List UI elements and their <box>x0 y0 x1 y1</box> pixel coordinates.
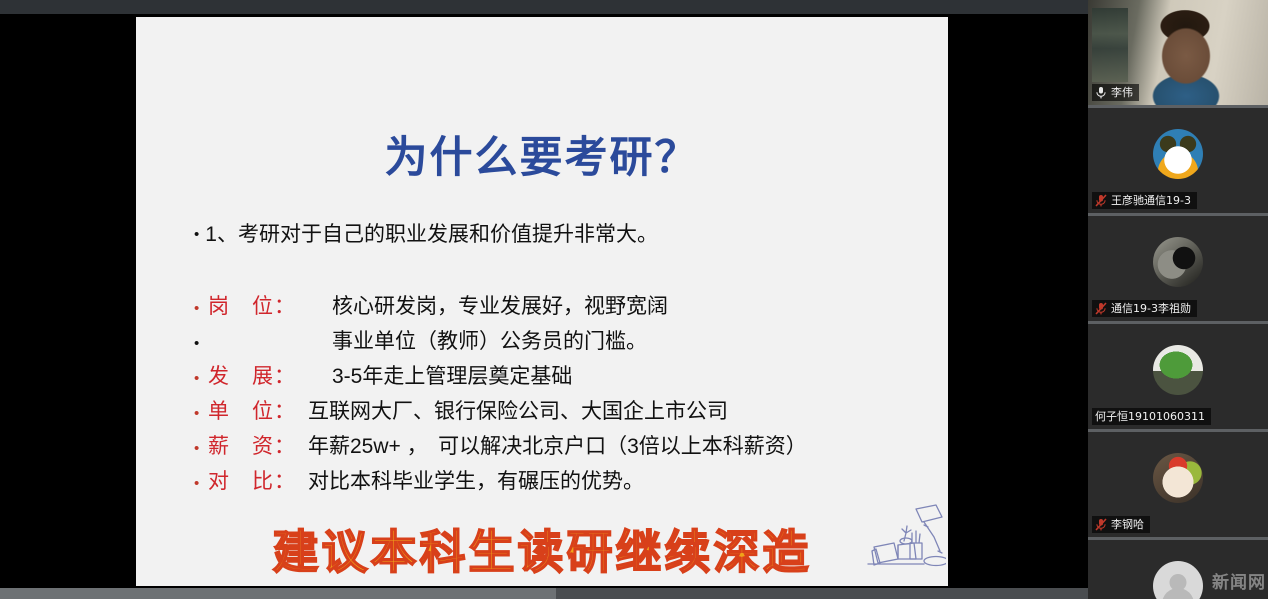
broadcaster-watermark: 新闻网 <box>1212 568 1266 593</box>
participant-tile[interactable]: 王彦驰通信19-3 <box>1088 108 1268 213</box>
slide-bullet-row: •岗 位：核心研发岗，专业发展好，视野宽阔 <box>194 290 934 325</box>
slide-bullet-row: •对 比：对比本科毕业学生，有碾压的优势。 <box>194 465 934 500</box>
slide-lead-text: 1、考研对于自己的职业发展和价值提升非常大。 <box>205 223 658 246</box>
participant-name-badge: 李伟 <box>1092 84 1139 101</box>
slide-bullet-value: 事业单位（教师）公务员的门槛。 <box>308 325 647 355</box>
participant-name: 通信19-3李祖勋 <box>1111 302 1191 315</box>
participant-tile[interactable]: 李伟 <box>1088 0 1268 105</box>
toolbar-segment-right <box>640 588 1088 599</box>
bullet-dot: • <box>194 226 199 243</box>
slide-bullet-row: •发 展：3-5年走上管理层奠定基础 <box>194 360 934 395</box>
mic-muted-icon <box>1095 302 1107 315</box>
slide-bullet-row: •单 位：互联网大厂、银行保险公司、大国企上市公司 <box>194 395 934 430</box>
mic-muted-icon <box>1095 518 1107 531</box>
slide-lead-bullet: •1、考研对于自己的职业发展和价值提升非常大。 <box>194 222 914 247</box>
participant-name: 李钢哈 <box>1111 518 1144 531</box>
meeting-toolbar-strip[interactable] <box>0 588 1088 599</box>
slide-bullet-value: 互联网大厂、银行保险公司、大国企上市公司 <box>308 395 728 425</box>
participant-name-badge: 王彦驰通信19-3 <box>1092 192 1197 209</box>
slide-bullet-label: 薪 资： <box>208 430 308 460</box>
toolbar-segment-left <box>0 588 556 599</box>
participant-name-badge: 李钢哈 <box>1092 516 1150 533</box>
participant-name-badge: 何子恒19101060311 <box>1092 408 1211 425</box>
bullet-dot: • <box>194 326 208 361</box>
slide-bullet-label: 岗 位： <box>208 290 308 320</box>
screen-share-meeting-view: 为什么要考研？ •1、考研对于自己的职业发展和价值提升非常大。 •岗 位：核心研… <box>0 0 1268 599</box>
slide-bullet-label: 单 位： <box>208 395 308 425</box>
bullet-dot: • <box>194 396 208 431</box>
slide-bullet-label: 发 展： <box>208 360 308 390</box>
participant-name: 王彦驰通信19-3 <box>1111 194 1191 207</box>
shared-screen-stage[interactable]: 为什么要考研？ •1、考研对于自己的职业发展和价值提升非常大。 •岗 位：核心研… <box>0 14 1088 588</box>
slide-bullet-value: 核心研发岗，专业发展好，视野宽阔 <box>308 290 668 320</box>
slide-bullet-row: •薪 资：年薪25w+ ， 可以解决北京户口（3倍以上本科薪资） <box>194 430 934 465</box>
window-top-bar <box>0 0 1088 14</box>
avatar <box>1153 453 1203 503</box>
avatar <box>1153 345 1203 395</box>
mic-live-icon <box>1095 86 1107 99</box>
desk-lamp-book-illustration <box>854 503 946 581</box>
bullet-dot: • <box>194 431 208 466</box>
bookshelf-background <box>1092 8 1128 82</box>
bullet-dot: • <box>194 466 208 501</box>
avatar <box>1153 237 1203 287</box>
participant-filmstrip[interactable]: 李伟王彦驰通信19-3通信19-3李祖勋何子恒19101060311李钢哈新闻网 <box>1088 0 1268 599</box>
slide-banner-text: 建议本科生读研继续深造 <box>136 529 948 575</box>
participant-name: 何子恒19101060311 <box>1095 410 1205 423</box>
participant-name-badge: 通信19-3李祖勋 <box>1092 300 1197 317</box>
avatar <box>1153 129 1203 179</box>
slide-bullet-label: 对 比： <box>208 465 308 495</box>
participant-tile[interactable]: 何子恒19101060311 <box>1088 324 1268 429</box>
slide-bullet-value: 对比本科毕业学生，有碾压的优势。 <box>308 465 644 495</box>
slide-bullet-value: 年薪25w+ ， 可以解决北京户口（3倍以上本科薪资） <box>308 430 807 460</box>
avatar <box>1153 561 1203 599</box>
participant-tile[interactable]: 通信19-3李祖勋 <box>1088 216 1268 321</box>
slide-bullet-row: •事业单位（教师）公务员的门槛。 <box>194 325 934 360</box>
bullet-dot: • <box>194 361 208 396</box>
presentation-slide: 为什么要考研？ •1、考研对于自己的职业发展和价值提升非常大。 •岗 位：核心研… <box>136 17 948 586</box>
slide-title: 为什么要考研？ <box>136 137 948 180</box>
participant-tile[interactable]: 李钢哈 <box>1088 432 1268 537</box>
bullet-dot: • <box>194 291 208 326</box>
slide-bullet-list: •岗 位：核心研发岗，专业发展好，视野宽阔•事业单位（教师）公务员的门槛。•发 … <box>194 290 934 500</box>
mic-muted-icon <box>1095 194 1107 207</box>
participant-name: 李伟 <box>1111 86 1133 99</box>
slide-bullet-value: 3-5年走上管理层奠定基础 <box>308 360 572 390</box>
